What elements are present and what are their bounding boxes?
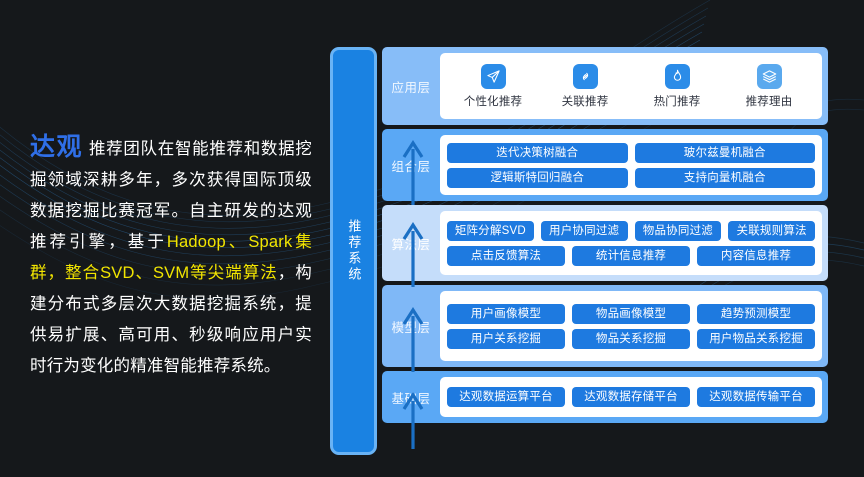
layer-body-foundation: 达观数据运算平台 达观数据存储平台 达观数据传输平台 [440,377,822,417]
app-item-personalized[interactable]: 个性化推荐 [450,64,536,109]
pill-item-collaborative-filtering[interactable]: 物品协同过滤 [635,221,722,241]
app-item-reason[interactable]: 推荐理由 [726,64,812,109]
pill-row: 点击反馈算法 统计信息推荐 内容信息推荐 [447,246,815,266]
pill-svm-fusion[interactable]: 支持向量机融合 [635,168,816,188]
recommendation-architecture-diagram: 推荐系统 应用层 [330,47,828,455]
app-label-personalized: 个性化推荐 [464,93,523,109]
brand-name: 达观 [30,133,83,161]
pill-storage-platform[interactable]: 达观数据存储平台 [572,387,690,407]
arrow-up-icon [402,302,424,372]
layer-stack: 应用层 个性化推荐 [382,47,828,455]
pill-association-rules[interactable]: 关联规则算法 [728,221,815,241]
app-label-hot: 热门推荐 [654,93,701,109]
app-item-hot[interactable]: 热门推荐 [634,64,720,109]
pill-trend-prediction-model[interactable]: 趋势预测模型 [697,304,815,324]
layer-body-algorithm: 矩阵分解SVD 用户协同过滤 物品协同过滤 关联规则算法 点击反馈算法 统计信息… [440,211,822,275]
layer-combination: 组合层 迭代决策树融合 玻尔兹曼机融合 逻辑斯特回归融合 支持向量机融合 [382,129,828,201]
pill-user-profile-model[interactable]: 用户画像模型 [447,304,565,324]
arrow-up-icon [402,217,424,287]
system-title-label: 推荐系统 [347,219,361,283]
pill-item-relation-mining[interactable]: 物品关系挖掘 [572,329,690,349]
app-item-related[interactable]: 关联推荐 [542,64,628,109]
pill-row: 用户画像模型 物品画像模型 趋势预测模型 [447,304,815,324]
layer-application: 应用层 个性化推荐 [382,47,828,125]
layer-foundation: 基础层 达观数据运算平台 达观数据存储平台 达观数据传输平台 [382,371,828,423]
layer-body-combination: 迭代决策树融合 玻尔兹曼机融合 逻辑斯特回归融合 支持向量机融合 [440,135,822,195]
pill-transmission-platform[interactable]: 达观数据传输平台 [697,387,815,407]
layer-body-model: 用户画像模型 物品画像模型 趋势预测模型 用户关系挖掘 物品关系挖掘 用户物品关… [440,291,822,361]
layer-model: 模型层 用户画像模型 物品画像模型 趋势预测模型 用户关系挖掘 物品关系挖掘 用… [382,285,828,367]
application-item-row: 个性化推荐 关联推荐 [447,64,815,109]
arrow-up-icon [402,387,424,449]
fire-icon [665,64,690,89]
arrow-up-icon [402,135,424,205]
left-description-panel: 达观推荐团队在智能推荐和数据挖掘领域深耕多年，多次获得国际顶级数据挖掘比赛冠军。… [0,0,326,477]
pill-logistic-regression-fusion[interactable]: 逻辑斯特回归融合 [447,168,628,188]
pill-user-relation-mining[interactable]: 用户关系挖掘 [447,329,565,349]
pill-row: 迭代决策树融合 玻尔兹曼机融合 [447,143,815,163]
pill-matrix-factorization-svd[interactable]: 矩阵分解SVD [447,221,534,241]
app-label-related: 关联推荐 [562,93,609,109]
pill-row: 达观数据运算平台 达观数据存储平台 达观数据传输平台 [447,387,815,407]
company-description: 达观推荐团队在智能推荐和数据挖掘领域深耕多年，多次获得国际顶级数据挖掘比赛冠军。… [30,132,312,382]
link-chain-icon [573,64,598,89]
pill-gbdt-fusion[interactable]: 迭代决策树融合 [447,143,628,163]
pill-statistical-recommendation[interactable]: 统计信息推荐 [572,246,690,266]
layer-algorithm: 算法层 矩阵分解SVD 用户协同过滤 物品协同过滤 关联规则算法 点击反馈算法 … [382,205,828,281]
app-label-reason: 推荐理由 [746,93,793,109]
pill-content-recommendation[interactable]: 内容信息推荐 [697,246,815,266]
system-title-bar: 推荐系统 [330,47,377,455]
layer-body-application: 个性化推荐 关联推荐 [440,53,822,119]
pill-compute-platform[interactable]: 达观数据运算平台 [447,387,565,407]
paper-plane-icon [481,64,506,89]
pill-row: 矩阵分解SVD 用户协同过滤 物品协同过滤 关联规则算法 [447,221,815,241]
pill-click-feedback-algorithm[interactable]: 点击反馈算法 [447,246,565,266]
layer-label-application: 应用层 [382,47,440,125]
pill-row: 用户关系挖掘 物品关系挖掘 用户物品关系挖掘 [447,329,815,349]
pill-item-profile-model[interactable]: 物品画像模型 [572,304,690,324]
pill-user-collaborative-filtering[interactable]: 用户协同过滤 [541,221,628,241]
pill-user-item-relation-mining[interactable]: 用户物品关系挖掘 [697,329,815,349]
pill-row: 逻辑斯特回归融合 支持向量机融合 [447,168,815,188]
layers-stack-icon [757,64,782,89]
pill-boltzmann-fusion[interactable]: 玻尔兹曼机融合 [635,143,816,163]
